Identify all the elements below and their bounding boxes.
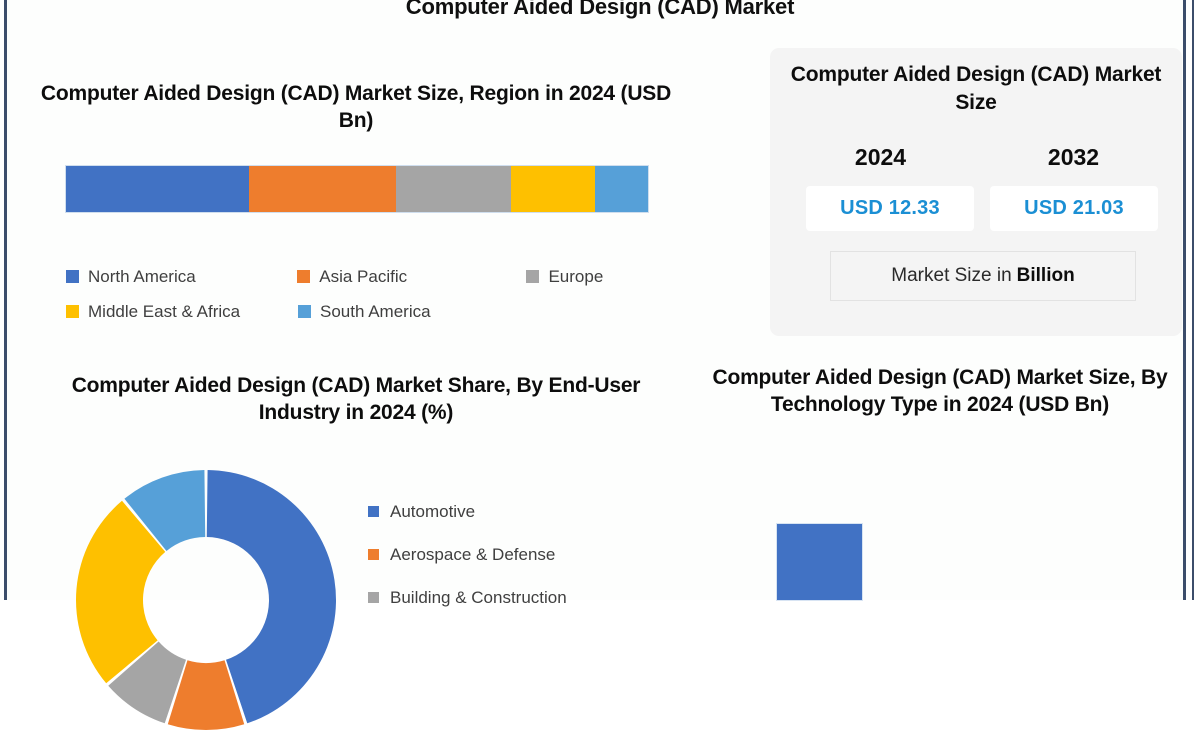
page-border-right-outer — [1192, 0, 1194, 600]
legend-item-aerospace-defense[interactable]: Aerospace & Defense — [368, 533, 668, 576]
legend-swatch-icon — [66, 305, 79, 318]
region-bar-segment — [595, 166, 648, 212]
legend-label: Automotive — [390, 502, 475, 522]
legend-item-asia-pacific[interactable]: Asia Pacific — [297, 267, 526, 287]
legend-swatch-icon — [298, 305, 311, 318]
legend-swatch-icon — [526, 270, 539, 283]
legend-item-europe[interactable]: Europe — [526, 267, 666, 287]
legend-swatch-icon — [368, 549, 379, 560]
market-size-card: Computer Aided Design (CAD) Market Size … — [770, 48, 1182, 336]
legend-item-south-america[interactable]: South America — [298, 302, 528, 322]
legend-swatch-icon — [66, 270, 79, 283]
end-user-donut-chart — [66, 470, 346, 750]
legend-label: South America — [320, 302, 431, 322]
value-start-box: USD 12.33 — [806, 186, 974, 231]
technology-bar — [777, 524, 862, 600]
legend-swatch-icon — [368, 506, 379, 517]
region-bar-segment — [249, 166, 396, 212]
region-bar-segment — [511, 166, 595, 212]
market-size-years: 2024 2032 — [784, 144, 1170, 171]
legend-label: Aerospace & Defense — [390, 545, 555, 565]
region-chart-title: Computer Aided Design (CAD) Market Size,… — [36, 80, 676, 135]
region-stacked-bar — [66, 166, 648, 212]
legend-item-automotive[interactable]: Automotive — [368, 490, 668, 533]
region-bar-segment — [396, 166, 511, 212]
region-bar-segment — [66, 166, 249, 212]
region-legend: North America Asia Pacific Europe Middle… — [66, 259, 666, 329]
value-end-box: USD 21.03 — [990, 186, 1158, 231]
unit-note-prefix: Market Size in — [891, 265, 1011, 287]
year-end-label: 2032 — [977, 144, 1170, 171]
legend-item-north-america[interactable]: North America — [66, 267, 297, 287]
legend-label: Middle East & Africa — [88, 302, 240, 322]
market-size-card-title: Computer Aided Design (CAD) Market Size — [782, 61, 1170, 116]
page-title: Computer Aided Design (CAD) Market — [0, 0, 1200, 20]
market-size-unit-note: Market Size in Billion — [830, 251, 1136, 301]
unit-note-emphasis: Billion — [1017, 265, 1075, 287]
donut-svg — [66, 470, 346, 750]
market-size-values: USD 12.33 USD 21.03 — [806, 186, 1158, 231]
region-legend-row-1: North America Asia Pacific Europe — [66, 259, 666, 294]
legend-swatch-icon — [368, 592, 379, 603]
page-border-right — [1183, 0, 1186, 600]
legend-label: Europe — [548, 267, 603, 287]
legend-label: Asia Pacific — [319, 267, 407, 287]
legend-label: North America — [88, 267, 196, 287]
technology-chart-title: Computer Aided Design (CAD) Market Size,… — [700, 364, 1180, 419]
year-start-label: 2024 — [784, 144, 977, 171]
share-chart-title: Computer Aided Design (CAD) Market Share… — [36, 372, 676, 427]
page-border-left — [4, 0, 7, 600]
legend-item-middle-east-africa[interactable]: Middle East & Africa — [66, 302, 298, 322]
legend-swatch-icon — [297, 270, 310, 283]
legend-label: Building & Construction — [390, 588, 567, 608]
region-legend-row-2: Middle East & Africa South America — [66, 294, 666, 329]
legend-item-building-construction[interactable]: Building & Construction — [368, 576, 668, 619]
